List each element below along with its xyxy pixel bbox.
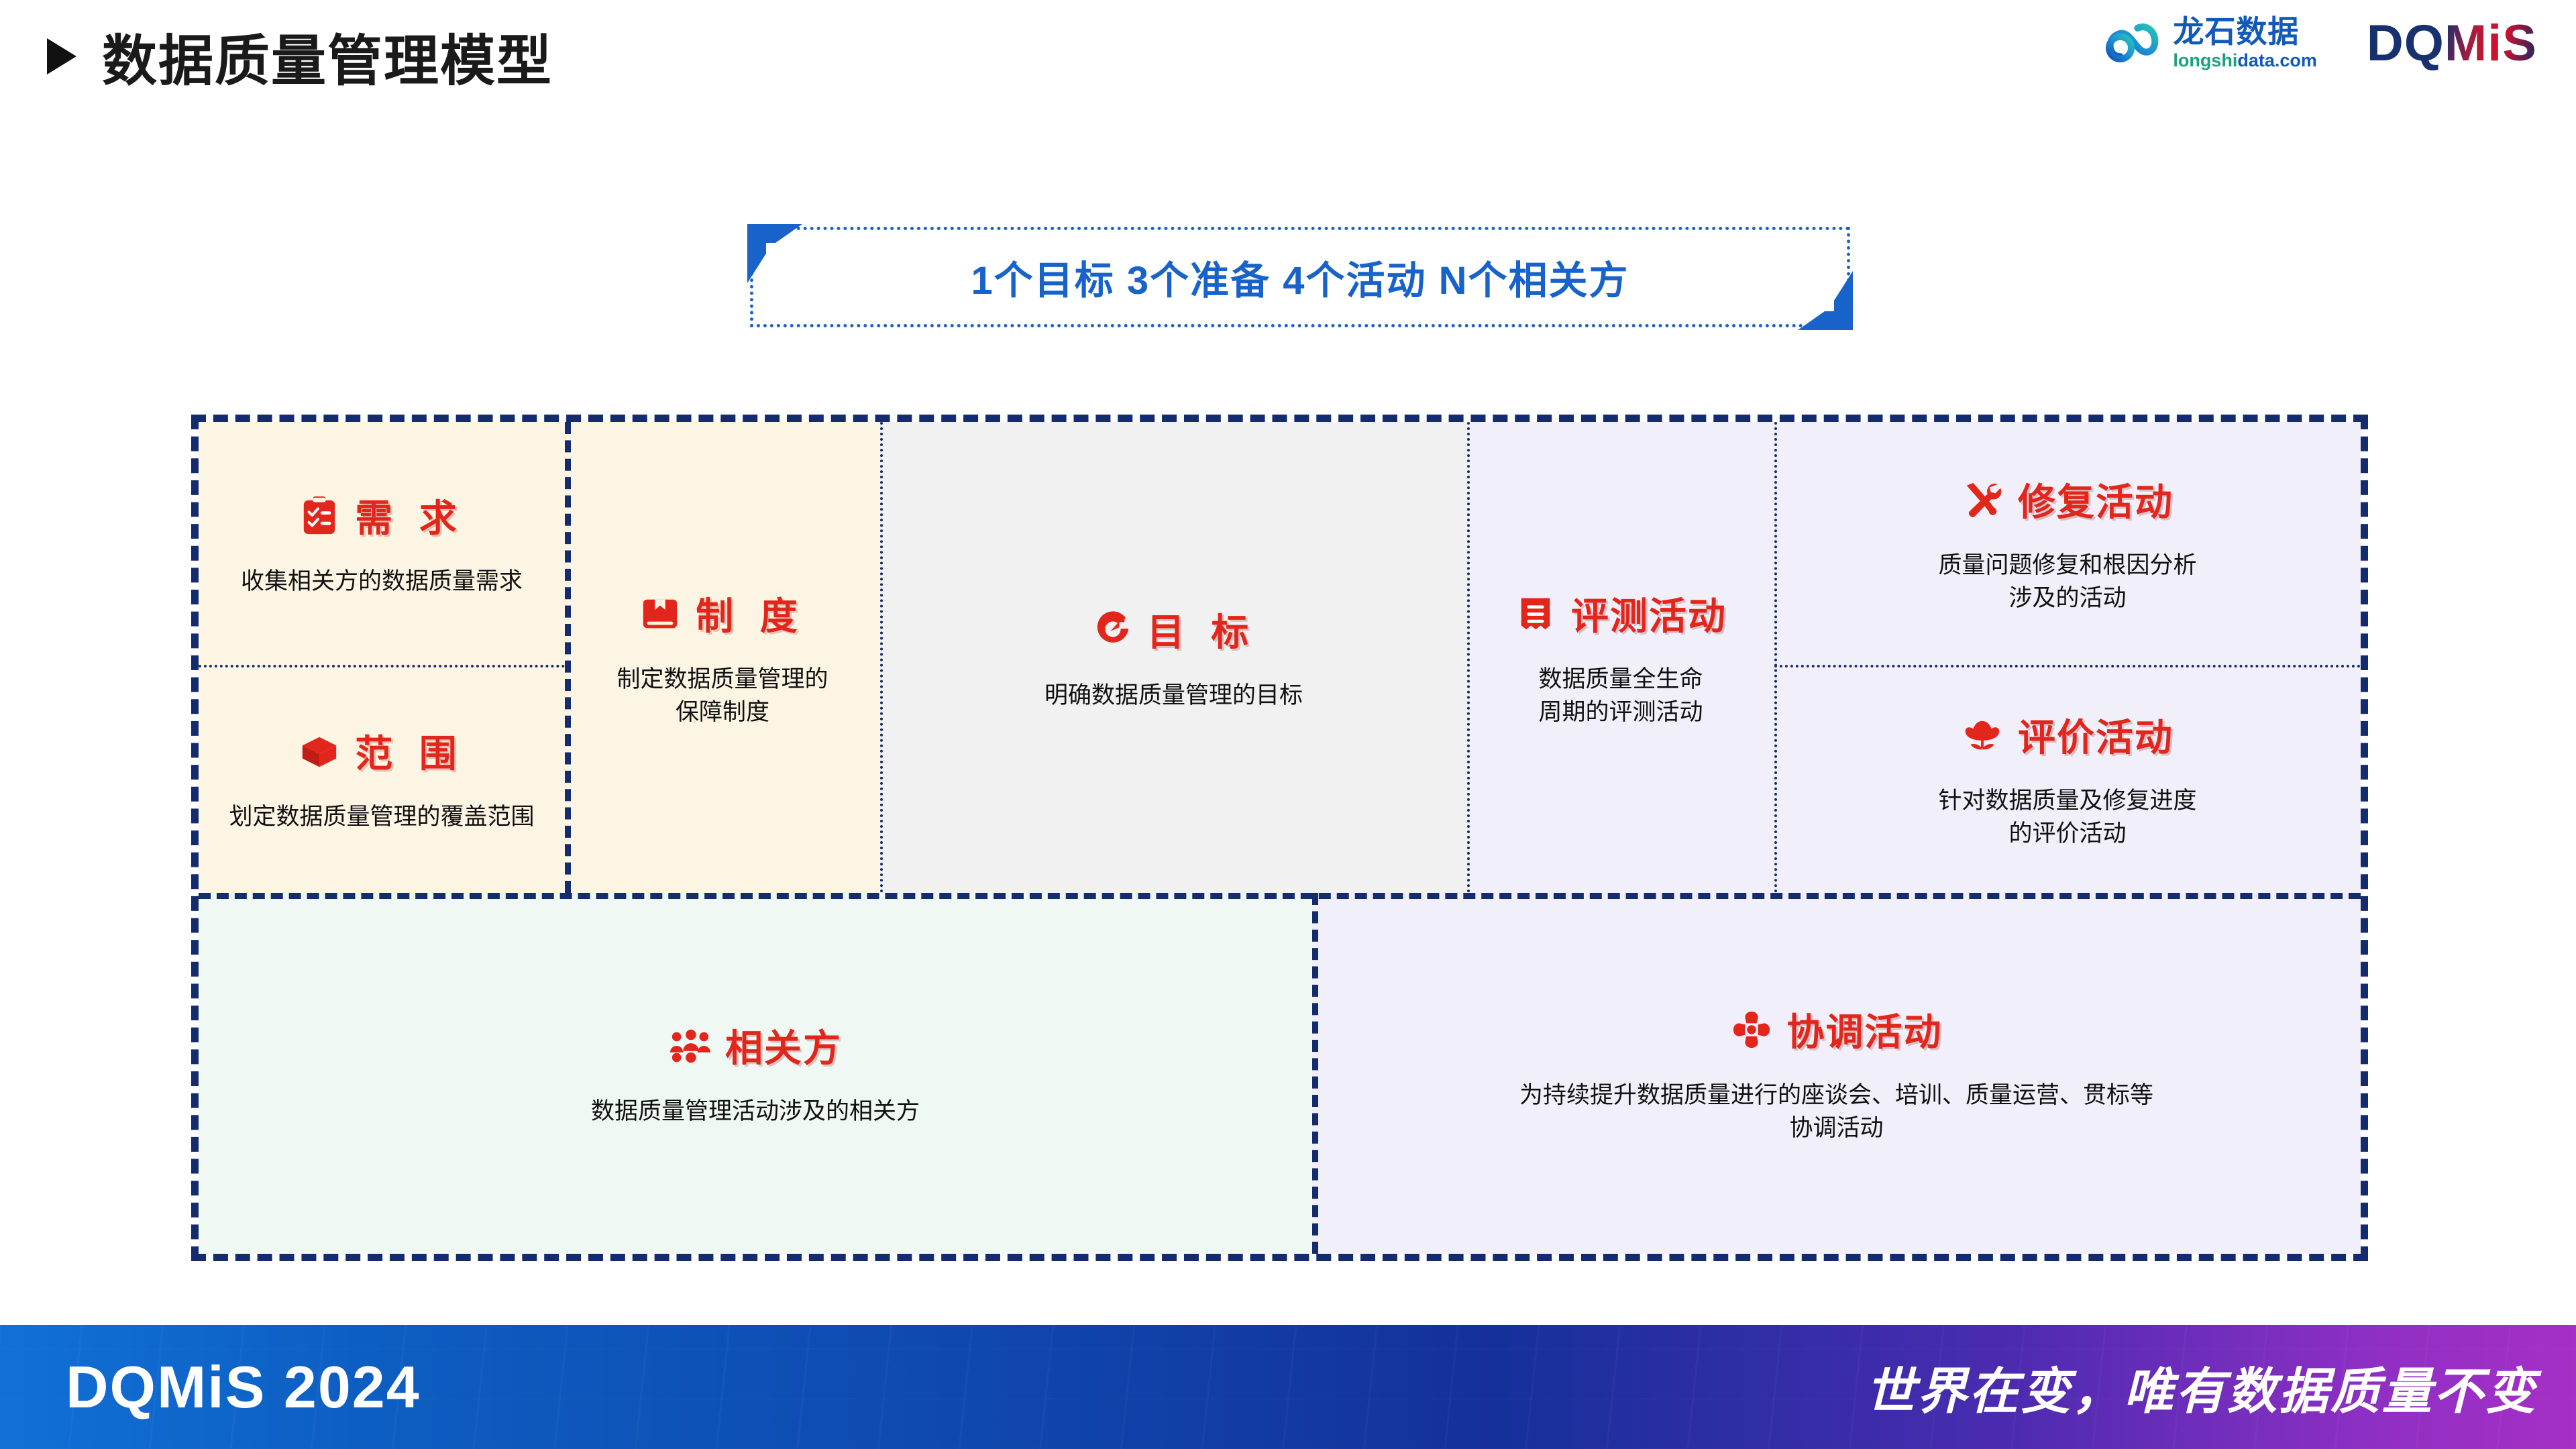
box-3d-icon [299,731,340,772]
triangle-right-icon [47,38,76,74]
longshi-cn-name: 龙石数据 [2173,16,2299,47]
card-desc: 质量问题修复和根因分析 涉及的活动 [1938,549,2196,614]
card-title: 评价活动 [2018,708,2173,762]
page-title-group: 数据质量管理模型 [47,16,553,96]
logo-group: 龙石数据 longshidata.com DQMiS [2102,12,2537,74]
banner-text: 1个目标 3个准备 4个活动 N个相关方 [750,227,1850,327]
card-assessment[interactable]: 评测活动 数据质量全生命 周期的评测活动 [1467,422,1774,893]
card-title: 范 围 [355,724,465,778]
card-evaluation[interactable]: 评价活动 针对数据质量及修复进度 的评价活动 [1774,665,2361,893]
card-title: 相关方 [725,1018,842,1073]
card-desc: 制定数据质量管理的 保障制度 [616,663,828,729]
card-desc: 收集相关方的数据质量需求 [241,566,523,598]
clipboard-checklist-icon [299,495,340,537]
divider-col2-col3 [880,422,883,893]
card-desc: 数据质量全生命 周期的评测活动 [1538,663,1703,729]
footer-brand: DQMiS 2024 [66,1353,421,1421]
card-policy[interactable]: 制 度 制定数据质量管理的 保障制度 [565,422,880,893]
divider-col4-col5 [1774,422,1777,893]
divider-stakeholders-coordination [1312,893,1318,1254]
document-lines-icon [1515,593,1556,635]
page-footer: DQMiS 2024 世界在变，唯有数据质量不变 [0,1325,2576,1449]
wrench-screwdriver-icon [1962,479,2003,521]
page-header: 数据质量管理模型 龙石数据 longshidata.com [0,0,2576,114]
page-title: 数据质量管理模型 [102,16,553,96]
summary-banner: 1个目标 3个准备 4个活动 N个相关方 [750,227,1850,327]
card-scope[interactable]: 范 围 划定数据质量管理的覆盖范围 [199,665,565,893]
card-desc: 划定数据质量管理的覆盖范围 [229,801,534,833]
card-requirement[interactable]: 需 求 收集相关方的数据质量需求 [199,422,565,665]
divider-col1-col2 [565,422,571,893]
people-group-icon [669,1025,710,1067]
footer-slogan: 世界在变，唯有数据质量不变 [1866,1351,2537,1423]
model-grid: 需 求 收集相关方的数据质量需求 范 围 划定数据质量管理的覆盖范围 [191,415,2368,1261]
card-desc: 数据质量管理活动涉及的相关方 [591,1095,920,1128]
handshake-hands-icon [1731,1009,1772,1051]
card-title: 修复活动 [2018,472,2173,527]
divider-requirement-scope [199,665,565,667]
card-goal[interactable]: 目 标 明确数据质量管理的目标 [880,422,1467,893]
longshidata-logo: 龙石数据 longshidata.com [2102,12,2317,74]
card-title: 评测活动 [1571,586,1727,641]
longshi-infinity-icon [2102,12,2163,74]
book-icon [639,593,681,635]
card-coordination[interactable]: 协调活动 为持续提升数据质量进行的座谈会、培训、质量运营、贯标等 协调活动 [1312,893,2361,1254]
longshi-domain-part1: longshi [2173,50,2237,70]
target-dart-icon [1091,609,1132,651]
card-title: 制 度 [696,586,806,641]
divider-repair-evaluation [1774,665,2361,667]
card-desc: 为持续提升数据质量进行的座谈会、培训、质量运营、贯标等 协调活动 [1519,1079,2153,1144]
card-desc: 明确数据质量管理的目标 [1044,680,1303,712]
card-title: 协调活动 [1787,1002,1943,1057]
card-repair[interactable]: 修复活动 质量问题修复和根因分析 涉及的活动 [1774,422,2361,665]
divider-top-bottom-band [199,893,2361,899]
longshi-domain-part2: data.com [2237,50,2317,70]
card-title: 目 标 [1147,602,1257,657]
dqmis-logo: DQMiS [2367,14,2537,72]
card-title: 需 求 [355,488,465,543]
divider-col3-col4 [1467,422,1470,893]
card-desc: 针对数据质量及修复进度 的评价活动 [1938,785,2196,850]
card-stakeholders[interactable]: 相关方 数据质量管理活动涉及的相关方 [199,893,1312,1254]
tulip-flower-icon [1962,714,2003,756]
